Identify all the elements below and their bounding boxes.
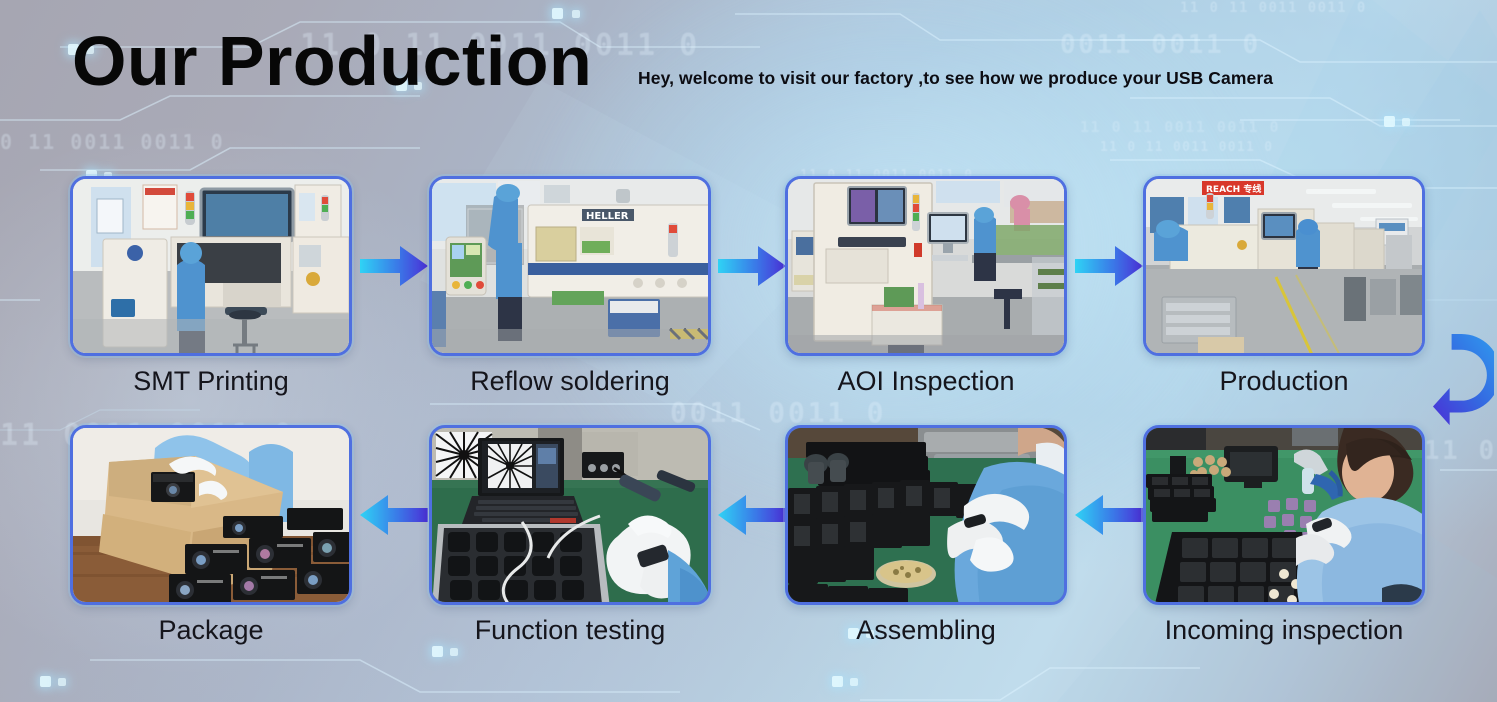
flow-row-2: Package — [0, 425, 1497, 661]
flow-arrow-right — [716, 243, 788, 289]
step-label-function-testing: Function testing — [429, 615, 711, 646]
svg-text:HELLER: HELLER — [586, 211, 629, 222]
thumbnail-aoi-inspection[interactable] — [785, 176, 1067, 356]
photo-incoming-inspection — [1146, 428, 1422, 602]
photo-assembling — [788, 428, 1064, 602]
photo-production: REACH 专线 — [1146, 179, 1422, 353]
glow-node-icon — [40, 676, 51, 687]
flow-row-1: SMT Printing — [0, 176, 1497, 412]
step-label-reflow-soldering: Reflow soldering — [429, 366, 711, 397]
step-label-smt-printing: SMT Printing — [70, 366, 352, 397]
flow-arrow-right — [358, 243, 430, 289]
flow-step-smt-printing[interactable]: SMT Printing — [70, 176, 352, 356]
flow-step-aoi-inspection[interactable]: AOI Inspection — [785, 176, 1067, 356]
flow-arrow-left — [1073, 492, 1145, 538]
flow-step-reflow-soldering[interactable]: HELLER — [429, 176, 711, 356]
flow-step-production[interactable]: REACH 专线 — [1143, 176, 1425, 356]
flow-arrow-left — [358, 492, 430, 538]
photo-smt-printing — [73, 179, 349, 353]
production-flow-infographic: 11 0 11 0011 0011 0 0011 0011 0 11 0 11 … — [0, 0, 1497, 702]
photo-aoi-inspection — [788, 179, 1064, 353]
page-title: Our Production — [72, 26, 592, 96]
thumbnail-smt-printing[interactable] — [70, 176, 352, 356]
header: Our Production Hey, welcome to visit our… — [0, 0, 1497, 150]
flow-arrow-return — [1428, 334, 1494, 434]
step-label-assembling: Assembling — [785, 615, 1067, 646]
svg-text:REACH 专线: REACH 专线 — [1206, 183, 1261, 195]
flow-step-function-testing[interactable]: Function testing — [429, 425, 711, 605]
glow-node-icon — [850, 678, 858, 686]
glow-node-icon — [58, 678, 66, 686]
thumbnail-incoming-inspection[interactable] — [1143, 425, 1425, 605]
step-label-aoi-inspection: AOI Inspection — [785, 366, 1067, 397]
glow-node-icon — [832, 676, 843, 687]
page-subtitle: Hey, welcome to visit our factory ,to se… — [638, 68, 1273, 89]
photo-function-testing — [432, 428, 708, 602]
step-label-production: Production — [1143, 366, 1425, 397]
thumbnail-production[interactable]: REACH 专线 — [1143, 176, 1425, 356]
thumbnail-package[interactable] — [70, 425, 352, 605]
flow-step-assembling[interactable]: Assembling — [785, 425, 1067, 605]
step-label-incoming-inspection: Incoming inspection — [1143, 615, 1425, 646]
thumbnail-assembling[interactable] — [785, 425, 1067, 605]
flow-arrow-right — [1073, 243, 1145, 289]
thumbnail-function-testing[interactable] — [429, 425, 711, 605]
flow-arrow-left — [716, 492, 788, 538]
flow-step-incoming-inspection[interactable]: Incoming inspection — [1143, 425, 1425, 605]
photo-package — [73, 428, 349, 602]
flow-step-package[interactable]: Package — [70, 425, 352, 605]
thumbnail-reflow-soldering[interactable]: HELLER — [429, 176, 711, 356]
step-label-package: Package — [70, 615, 352, 646]
photo-reflow-soldering: HELLER — [432, 179, 708, 353]
